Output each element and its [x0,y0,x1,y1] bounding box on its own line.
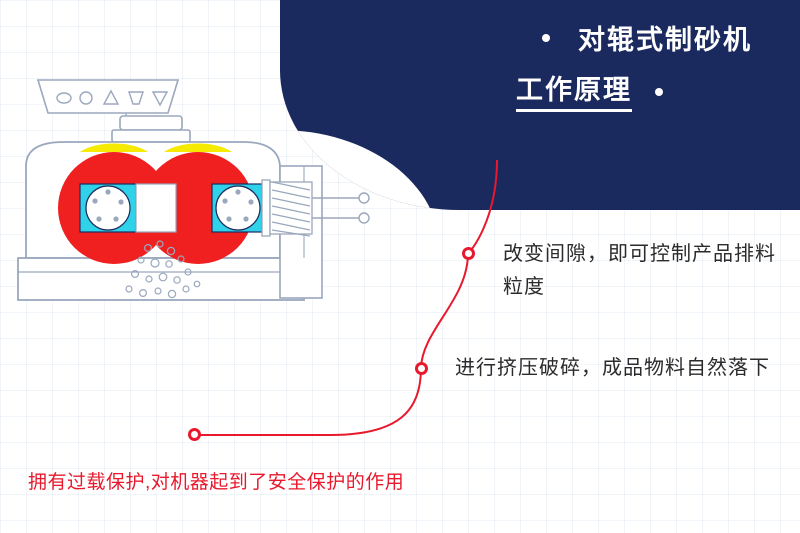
machine-top-cap [112,116,190,142]
callout-node-2[interactable] [415,362,428,375]
callout-text-1: 改变间隙，即可控制产品排料粒度 [503,238,793,304]
callout-node-1[interactable] [462,247,475,260]
callout-node-3[interactable] [188,428,201,441]
adjustable-gap [136,184,176,232]
bullet-dot-icon-2 [655,88,663,96]
callout-text-3: 拥有过载保护,对机器起到了安全保护的作用 [28,466,404,499]
callout-text-2: 进行挤压破碎，成品物料自然落下 [455,352,785,385]
page-title-line-1: 对辊式制砂机 [578,18,752,57]
diagram-canvas: 对辊式制砂机 工作原理 改变间隙，即可控制产品排料粒度 进行挤压破碎，成品物料自… [0,0,800,533]
page-title-line-2: 工作原理 [516,68,632,112]
bullet-dot-icon-1 [542,34,550,42]
